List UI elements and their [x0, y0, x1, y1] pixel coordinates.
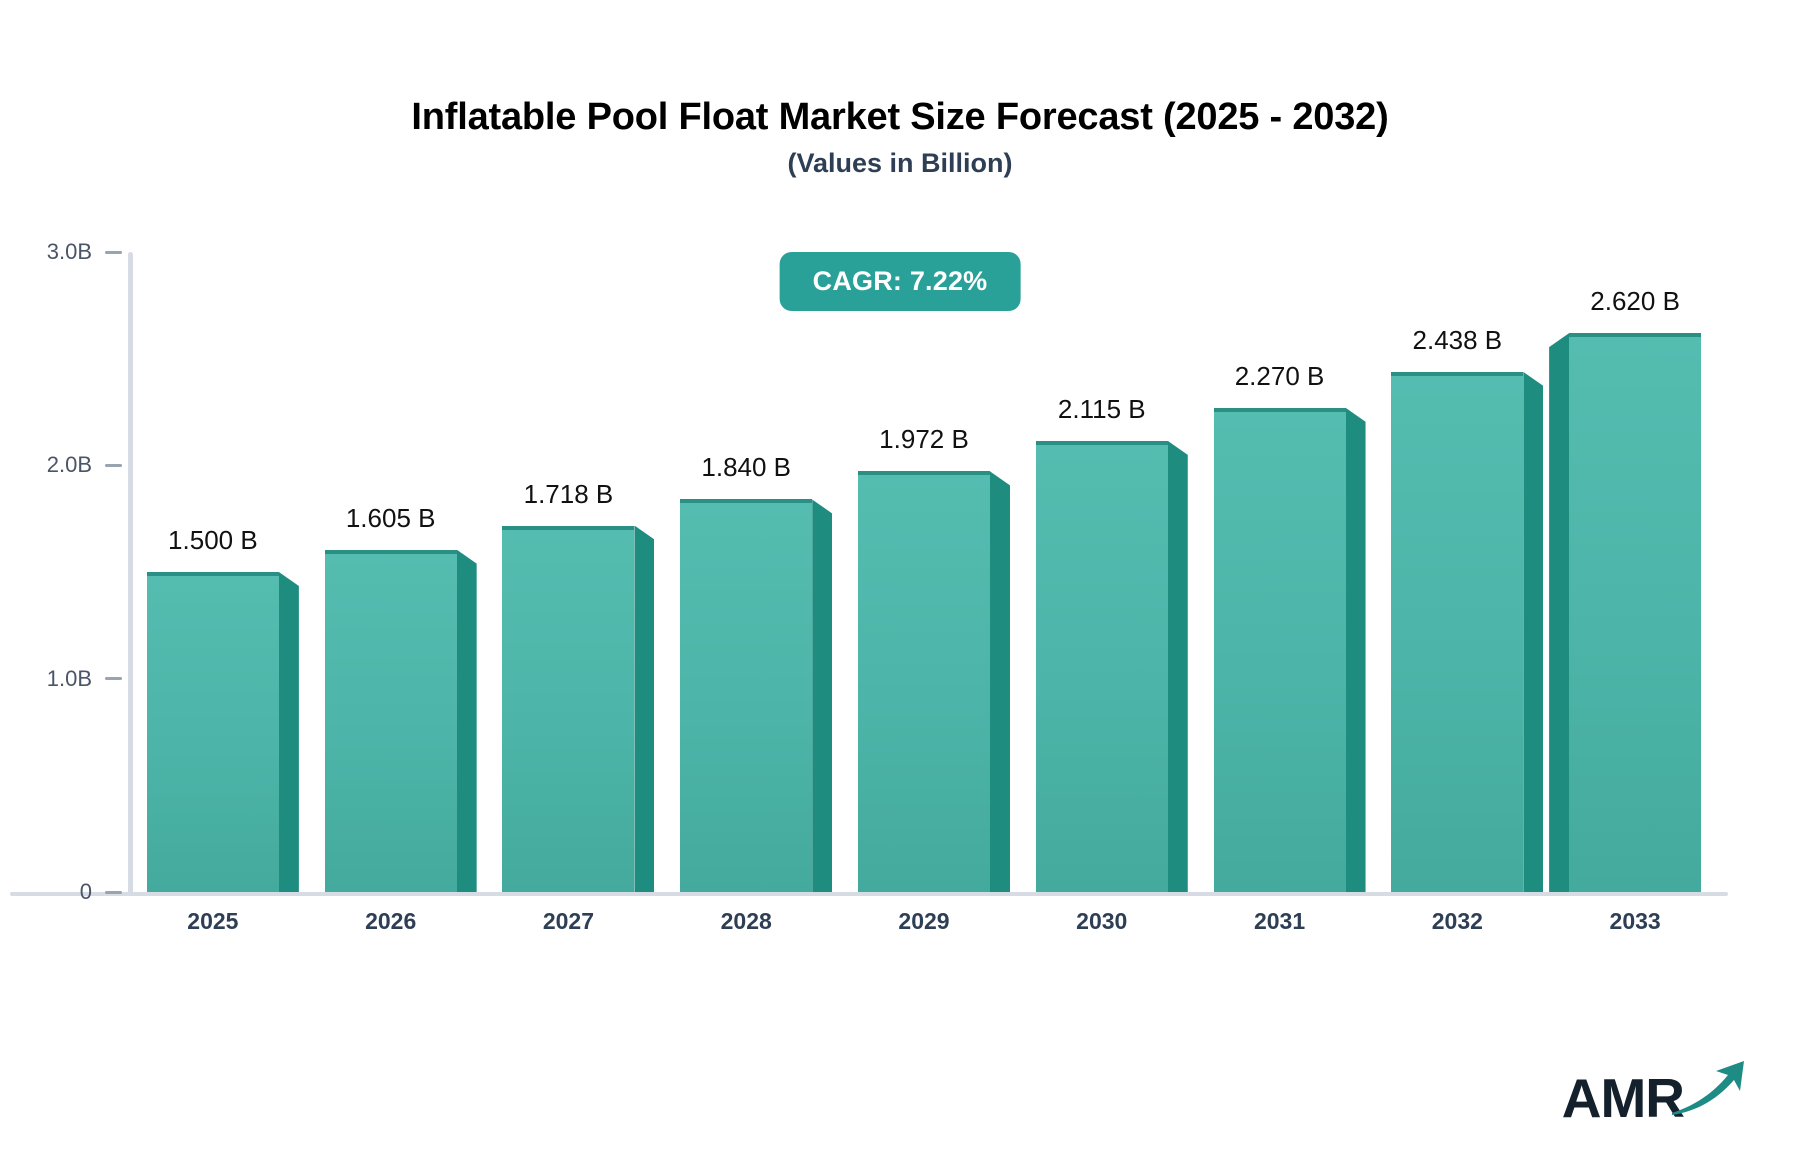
- x-axis-label-2033: 2033: [1610, 908, 1661, 935]
- x-axis-line: [10, 892, 1728, 896]
- bar-side-face: [1523, 372, 1543, 892]
- y-axis-tick: 2.0B: [0, 452, 128, 478]
- bar-top-edge: [1036, 441, 1168, 445]
- bar-top-edge: [858, 471, 990, 475]
- bar[interactable]: [325, 550, 457, 892]
- x-axis-label-2028: 2028: [721, 908, 772, 935]
- bar-value-label: 2.115 B: [1058, 394, 1146, 425]
- bar-top-edge: [1214, 408, 1346, 412]
- y-axis-tick-label: 0: [80, 879, 92, 905]
- bar-front-face: [680, 499, 812, 892]
- bar-front-face: [147, 572, 279, 892]
- bar-front-face: [325, 550, 457, 892]
- bar-value-label: 1.718 B: [524, 479, 614, 510]
- bar-front-face: [1214, 408, 1346, 892]
- x-axis-label-2031: 2031: [1254, 908, 1305, 935]
- bar-top-edge: [147, 572, 279, 576]
- y-axis-tick-mark: [105, 677, 122, 680]
- y-axis-tick-label: 1.0B: [47, 666, 92, 692]
- bar-side-face: [1168, 441, 1188, 892]
- bar-top-edge: [325, 550, 457, 554]
- y-axis-tick-mark: [105, 464, 122, 467]
- bar-side-face: [634, 526, 654, 893]
- bar-value-label: 1.500 B: [168, 525, 258, 556]
- y-axis-tick-mark: [105, 891, 122, 894]
- bar-front-face: [1036, 441, 1168, 892]
- y-axis-tick-label: 2.0B: [47, 452, 92, 478]
- bar-side-face: [1346, 408, 1366, 892]
- bar-front-face: [1569, 333, 1701, 892]
- bar[interactable]: [680, 499, 812, 892]
- bar[interactable]: [147, 572, 279, 892]
- bar[interactable]: [1391, 372, 1523, 892]
- bar[interactable]: [858, 471, 990, 892]
- x-axis-label-2030: 2030: [1076, 908, 1127, 935]
- amr-logo: AMR: [1562, 1057, 1748, 1126]
- bar-value-label: 1.605 B: [346, 503, 436, 534]
- bar-series: 1.500 B20251.605 B20261.718 B20271.840 B…: [128, 252, 1728, 892]
- y-axis-tick-mark: [105, 251, 122, 254]
- bar-value-label: 2.270 B: [1235, 361, 1325, 392]
- bar-front-face: [1391, 372, 1523, 892]
- bar-value-label: 2.438 B: [1413, 325, 1503, 356]
- x-axis-label-2026: 2026: [365, 908, 416, 935]
- bar[interactable]: [502, 526, 634, 893]
- bar-value-label: 1.972 B: [879, 424, 969, 455]
- x-axis-label-2029: 2029: [898, 908, 949, 935]
- bar[interactable]: [1569, 333, 1701, 892]
- y-axis-tick: 3.0B: [0, 239, 128, 265]
- y-axis-tick: 1.0B: [0, 666, 128, 692]
- bar-side-face: [1549, 333, 1569, 892]
- bar-group-2025: 1.500 B2025: [147, 252, 279, 892]
- bar-side-face: [812, 499, 832, 892]
- bar-group-2033: 2.620 B2033: [1569, 252, 1701, 892]
- arrow-up-right-icon: [1670, 1057, 1748, 1124]
- x-axis-label-2025: 2025: [187, 908, 238, 935]
- bar-group-2031: 2.270 B2031: [1214, 252, 1346, 892]
- bar-top-edge: [502, 526, 634, 530]
- y-axis-tick: 0: [0, 879, 128, 905]
- page-subtitle: (Values in Billion): [0, 148, 1800, 179]
- bar-value-label: 1.840 B: [701, 452, 791, 483]
- x-axis-label-2027: 2027: [543, 908, 594, 935]
- bar-top-edge: [1569, 333, 1701, 337]
- bar-side-face: [279, 572, 299, 892]
- bar-group-2026: 1.605 B2026: [325, 252, 457, 892]
- bar-value-label: 2.620 B: [1590, 286, 1680, 317]
- bar-group-2030: 2.115 B2030: [1036, 252, 1168, 892]
- bar-top-edge: [1391, 372, 1523, 376]
- bar-side-face: [990, 471, 1010, 892]
- page-title: Inflatable Pool Float Market Size Foreca…: [0, 96, 1800, 139]
- bar-group-2028: 1.840 B2028: [680, 252, 812, 892]
- bar[interactable]: [1214, 408, 1346, 892]
- x-axis-label-2032: 2032: [1432, 908, 1483, 935]
- y-axis-tick-label: 3.0B: [47, 239, 92, 265]
- chart-page: Inflatable Pool Float Market Size Foreca…: [0, 0, 1800, 1156]
- bar-group-2029: 1.972 B2029: [858, 252, 990, 892]
- bar[interactable]: [1036, 441, 1168, 892]
- bar-front-face: [502, 526, 634, 893]
- bar-group-2032: 2.438 B2032: [1391, 252, 1523, 892]
- bar-top-edge: [680, 499, 812, 503]
- plot-area: 3.0B2.0B1.0B0 1.500 B20251.605 B20261.71…: [128, 252, 1728, 895]
- bar-front-face: [858, 471, 990, 892]
- bar-group-2027: 1.718 B2027: [502, 252, 634, 892]
- logo-text: AMR: [1562, 1071, 1684, 1126]
- bar-side-face: [457, 550, 477, 892]
